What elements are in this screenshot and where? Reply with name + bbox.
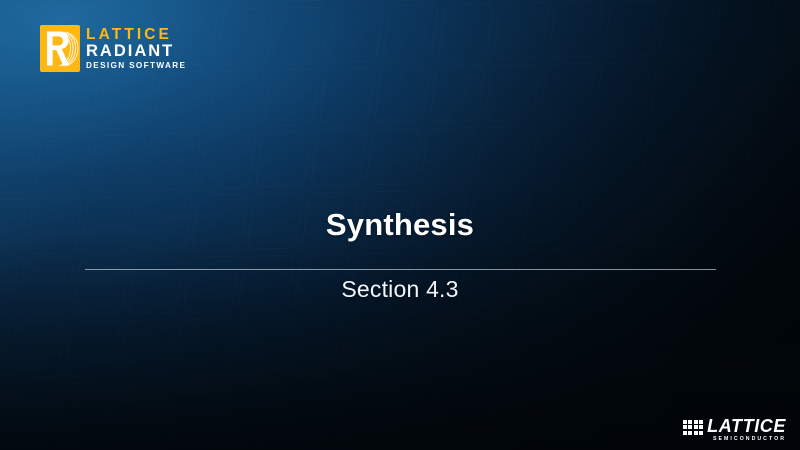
radiant-wordmark-radiant: RADIANT — [86, 43, 186, 60]
lattice-wordmark: LATTICE — [707, 417, 786, 435]
radiant-r-mark-icon — [40, 25, 80, 72]
radiant-wordmark: LATTICE RADIANT DESIGN SOFTWARE — [86, 27, 186, 71]
presentation-slide: (function () { var host = document.curre… — [0, 0, 800, 450]
radiant-wordmark-tagline: DESIGN SOFTWARE — [86, 62, 186, 70]
slide-title: Synthesis — [0, 208, 800, 242]
radiant-wordmark-lattice: LATTICE — [86, 27, 186, 43]
slide-subtitle: Section 4.3 — [0, 276, 800, 303]
title-block: Synthesis — [0, 208, 800, 242]
lattice-tagline: SEMICONDUCTOR — [707, 437, 786, 442]
lattice-pixel-grid-icon — [683, 420, 703, 435]
lattice-wordmark-group: LATTICE SEMICONDUCTOR — [707, 417, 786, 442]
radiant-logo: LATTICE RADIANT DESIGN SOFTWARE — [40, 25, 186, 72]
title-divider — [85, 269, 716, 270]
lattice-semiconductor-logo: LATTICE SEMICONDUCTOR — [683, 417, 786, 442]
